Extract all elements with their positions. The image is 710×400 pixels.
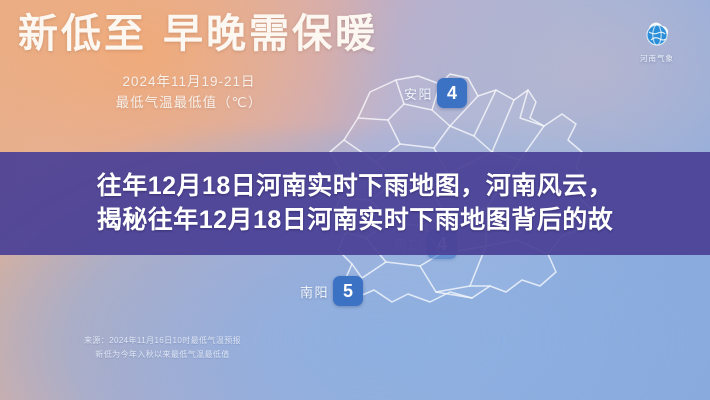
city-marker-nanyang: 南阳 5 — [300, 276, 363, 306]
subtitle-metric: 最低气温最低值（℃） — [74, 93, 304, 114]
footnote-line-2: 新低为今年入秋以来最低气温最低值 — [55, 348, 270, 362]
article-title-line-2: 揭秘往年12月18日河南实时下雨地图背后的故 — [97, 206, 614, 236]
henan-weather-logo: 河南气象 — [624, 14, 690, 76]
city-value-anyang: 4 — [437, 78, 467, 108]
headline-part-1: 新低至 — [18, 12, 147, 56]
poster-subtitle: 2024年11月19-21日 最低气温最低值（℃） — [74, 72, 304, 114]
poster-footnote: 来源：2024年11月16日10时最低气温预报 新低为今年入秋以来最低气温最低值 — [55, 334, 270, 362]
article-title-overlay: 往年12月18日河南实时下雨地图，河南风云， 揭秘往年12月18日河南实时下雨地… — [0, 152, 710, 255]
cloud-globe-icon — [637, 14, 677, 52]
city-marker-anyang: 安阳 4 — [404, 78, 467, 108]
city-name-anyang: 安阳 — [404, 84, 433, 103]
subtitle-date: 2024年11月19-21日 — [74, 72, 304, 93]
city-value-nanyang: 5 — [333, 276, 363, 306]
poster-headline: 新低至早晚需保暖 — [18, 12, 488, 57]
logo-label: 河南气象 — [624, 53, 690, 64]
weather-poster-screenshot: 新低至早晚需保暖 2024年11月19-21日 最低气温最低值（℃） 河南气象 … — [0, 0, 710, 400]
headline-part-2: 早晚需保暖 — [163, 12, 378, 56]
article-title-line-1: 往年12月18日河南实时下雨地图，河南风云， — [97, 172, 614, 202]
city-name-nanyang: 南阳 — [300, 282, 329, 301]
footnote-line-1: 来源：2024年11月16日10时最低气温预报 — [55, 334, 270, 348]
